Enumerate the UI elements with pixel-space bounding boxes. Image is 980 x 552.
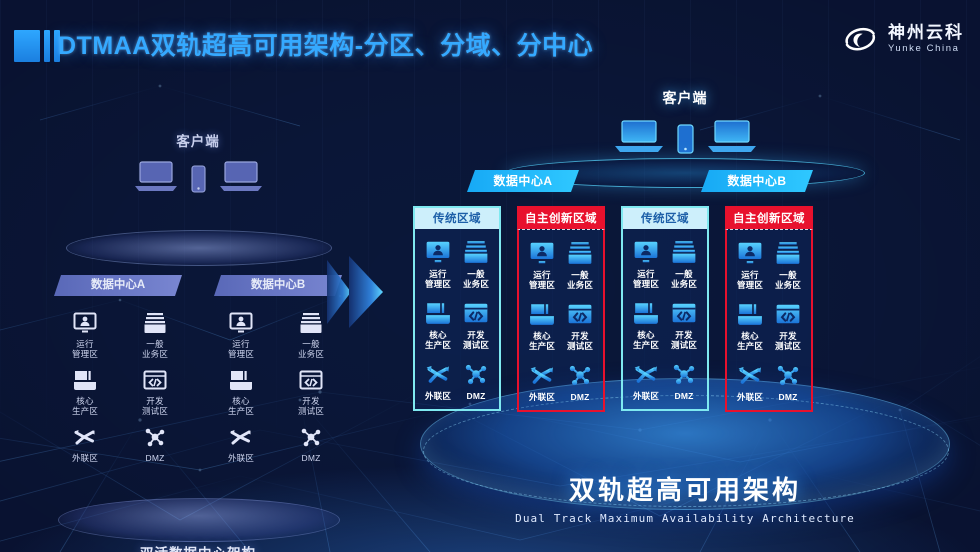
right-client-label: 客户端: [525, 88, 845, 108]
zone-ops: 运行管理区: [731, 239, 769, 290]
phone-icon: [191, 165, 206, 193]
network-branch-icon: [630, 360, 662, 388]
inbox-tray-icon: [772, 239, 804, 267]
zone-ops: 运行管理区: [523, 239, 561, 290]
zone-extranet: 外联区: [50, 424, 120, 463]
left-client-label: 客户端: [48, 130, 348, 150]
zone-label: 一般业务区: [142, 339, 168, 359]
zone-label: 外联区: [737, 392, 763, 402]
laptop-icon: [613, 118, 665, 154]
server-stack-icon: [422, 299, 454, 327]
zone-extranet: 外联区: [627, 360, 665, 401]
zone-label: DMZ: [570, 392, 589, 402]
zone-label: 外联区: [228, 453, 254, 463]
right-caption-cn: 双轨超高可用架构: [485, 470, 885, 507]
zone-label: 外联区: [72, 453, 98, 463]
zone-label: 开发测试区: [775, 331, 801, 351]
zone-dmz: DMZ: [120, 424, 190, 463]
inbox-tray-icon: [140, 310, 170, 336]
code-window-icon: [140, 367, 170, 393]
monitor-person-icon: [70, 310, 100, 336]
brand-logo: 神州云科 Yunke China: [841, 20, 964, 58]
monitor-person-icon: [734, 239, 766, 267]
right-datacenter-badge-a: 数据中心A: [467, 170, 579, 192]
legacy-architecture-diagram: 客户端 数据中心A 数据中心B: [48, 130, 348, 460]
zone-core: 核心生产区: [731, 300, 769, 351]
zone-label: 一般业务区: [298, 339, 324, 359]
zone-label: 核心生产区: [425, 330, 451, 350]
zone-label: 运行管理区: [633, 269, 659, 289]
network-branch-icon: [734, 361, 766, 389]
slide-canvas: DTMAA双轨超高可用架构-分区、分域、分中心 神州云科 Yunke China…: [0, 0, 980, 552]
zone-general: 一般业务区: [120, 310, 190, 359]
zone-label: 开发测试区: [298, 396, 324, 416]
right-client-devices: [525, 118, 845, 154]
phone-icon: [677, 124, 694, 154]
code-window-icon: [668, 299, 700, 327]
left-datacenter-b-zones: 运行管理区 一般业务区 核心生产区: [206, 310, 346, 463]
zone-label: DMZ: [674, 391, 693, 401]
zone-label: DMZ: [301, 453, 320, 463]
panel-body: 运行管理区 一般业务区 核心生产区: [621, 229, 709, 411]
zone-dmz: DMZ: [276, 424, 346, 463]
inbox-tray-icon: [668, 238, 700, 266]
dtmaa-architecture-diagram: 客户端 数据中心A: [405, 88, 965, 528]
zone-extranet: 外联区: [419, 360, 457, 401]
zone-devtest: 开发测试区: [769, 300, 807, 351]
zone-label: DMZ: [466, 391, 485, 401]
zone-label: 运行管理区: [72, 339, 98, 359]
right-datacenter-badge-b-wrap: 数据中心B: [701, 170, 813, 192]
node-cluster-icon: [772, 361, 804, 389]
zone-label: 运行管理区: [737, 270, 763, 290]
node-cluster-icon: [296, 424, 326, 450]
panel-innovation-b: 自主创新区域 运行管理区 一般业务区: [725, 206, 813, 412]
monitor-person-icon: [226, 310, 256, 336]
panel-body: 运行管理区 一般业务区 核心生产区: [413, 229, 501, 411]
network-branch-icon: [226, 424, 256, 450]
zone-general: 一般业务区: [561, 239, 599, 290]
right-caption-en: Dual Track Maximum Availability Architec…: [485, 512, 885, 525]
zone-dmz: DMZ: [457, 360, 495, 401]
galaxy-swirl-icon: [841, 20, 879, 58]
right-datacenter-badge-b: 数据中心B: [701, 170, 813, 192]
left-datacenter-badges: 数据中心A 数据中心B: [48, 275, 348, 296]
monitor-person-icon: [422, 238, 454, 266]
zone-core: 核心生产区: [206, 367, 276, 416]
zone-core: 核心生产区: [523, 300, 561, 351]
zone-label: 开发测试区: [671, 330, 697, 350]
zone-dmz: DMZ: [665, 360, 703, 401]
zone-devtest: 开发测试区: [665, 299, 703, 350]
zone-panels: 传统区域 运行管理区 一般业务区: [405, 206, 965, 412]
zone-label: 一般业务区: [463, 269, 489, 289]
header-accent-bars-icon: [14, 30, 60, 62]
zone-ops: 运行管理区: [206, 310, 276, 359]
panel-innovation-a: 自主创新区域 运行管理区 一般业务区: [517, 206, 605, 412]
zone-label: 核心生产区: [72, 396, 98, 416]
zone-label: 核心生产区: [633, 330, 659, 350]
panel-body: 运行管理区 一般业务区 核心生产区: [517, 229, 605, 412]
node-cluster-icon: [460, 360, 492, 388]
zone-core: 核心生产区: [50, 367, 120, 416]
panel-header: 传统区域: [413, 206, 501, 229]
code-window-icon: [296, 367, 326, 393]
zone-dmz: DMZ: [561, 361, 599, 402]
zone-ops: 运行管理区: [419, 238, 457, 289]
code-window-icon: [460, 299, 492, 327]
zone-core: 核心生产区: [419, 299, 457, 350]
zone-devtest: 开发测试区: [457, 299, 495, 350]
panel-header: 传统区域: [621, 206, 709, 229]
inbox-tray-icon: [296, 310, 326, 336]
laptop-icon: [133, 159, 179, 193]
right-client-group: 客户端: [525, 88, 845, 154]
node-cluster-icon: [668, 360, 700, 388]
monitor-person-icon: [526, 239, 558, 267]
zone-devtest: 开发测试区: [561, 300, 599, 351]
zone-extranet: 外联区: [523, 361, 561, 402]
inbox-tray-icon: [460, 238, 492, 266]
zone-label: 运行管理区: [529, 270, 555, 290]
left-client-devices: [48, 159, 348, 193]
left-diagram-caption: 双活数据中心架构: [48, 542, 348, 552]
zone-label: DMZ: [778, 392, 797, 402]
zone-label: 外联区: [529, 392, 555, 402]
zone-dmz: DMZ: [769, 361, 807, 402]
left-client-platform: [66, 230, 332, 266]
zone-label: 开发测试区: [463, 330, 489, 350]
zone-label: 一般业务区: [567, 270, 593, 290]
zone-label: 外联区: [425, 391, 451, 401]
server-stack-icon: [734, 300, 766, 328]
zone-label: 一般业务区: [671, 269, 697, 289]
server-stack-icon: [70, 367, 100, 393]
zone-devtest: 开发测试区: [276, 367, 346, 416]
right-datacenter-badge-a-wrap: 数据中心A: [467, 170, 579, 192]
zone-general: 一般业务区: [665, 238, 703, 289]
left-zone-groups: 运行管理区 一般业务区 核心生产区: [48, 310, 348, 463]
zone-label: 开发测试区: [142, 396, 168, 416]
network-branch-icon: [422, 360, 454, 388]
zone-label: DMZ: [145, 453, 164, 463]
server-stack-icon: [630, 299, 662, 327]
zone-ops: 运行管理区: [627, 238, 665, 289]
zone-devtest: 开发测试区: [120, 367, 190, 416]
laptop-icon: [706, 118, 758, 154]
panel-traditional-a: 传统区域 运行管理区 一般业务区: [413, 206, 501, 412]
zone-label: 外联区: [633, 391, 659, 401]
inbox-tray-icon: [564, 239, 596, 267]
server-stack-icon: [526, 300, 558, 328]
zone-extranet: 外联区: [731, 361, 769, 402]
zone-label: 核心生产区: [737, 331, 763, 351]
zone-label: 运行管理区: [425, 269, 451, 289]
double-chevron-right-icon: [325, 252, 391, 332]
code-window-icon: [772, 300, 804, 328]
network-branch-icon: [526, 361, 558, 389]
slide-header: DTMAA双轨超高可用架构-分区、分域、分中心 神州云科 Yunke China: [0, 0, 980, 82]
left-datacenter-a-zones: 运行管理区 一般业务区 核心生产区: [50, 310, 190, 463]
server-stack-icon: [226, 367, 256, 393]
zone-ops: 运行管理区: [50, 310, 120, 359]
panel-header: 自主创新区域: [517, 206, 605, 229]
zone-label: 一般业务区: [775, 270, 801, 290]
page-title: DTMAA双轨超高可用架构-分区、分域、分中心: [58, 26, 593, 62]
node-cluster-icon: [140, 424, 170, 450]
code-window-icon: [564, 300, 596, 328]
panel-header: 自主创新区域: [725, 206, 813, 229]
monitor-person-icon: [630, 238, 662, 266]
brand-name-cn: 神州云科: [888, 24, 964, 42]
left-datacenter-badge-a: 数据中心A: [54, 275, 182, 296]
zone-label: 开发测试区: [567, 331, 593, 351]
left-base-platform: [58, 498, 340, 542]
node-cluster-icon: [564, 361, 596, 389]
panel-traditional-b: 传统区域 运行管理区 一般业务区: [621, 206, 709, 412]
zone-extranet: 外联区: [206, 424, 276, 463]
right-diagram-caption: 双轨超高可用架构 Dual Track Maximum Availability…: [485, 470, 885, 525]
zone-general: 一般业务区: [457, 238, 495, 289]
zone-label: 核心生产区: [529, 331, 555, 351]
zone-label: 核心生产区: [228, 396, 254, 416]
left-datacenter-badge-b: 数据中心B: [214, 275, 342, 296]
zone-label: 运行管理区: [228, 339, 254, 359]
panel-body: 运行管理区 一般业务区 核心生产区: [725, 229, 813, 412]
zone-general: 一般业务区: [769, 239, 807, 290]
laptop-icon: [218, 159, 264, 193]
network-branch-icon: [70, 424, 100, 450]
zone-core: 核心生产区: [627, 299, 665, 350]
brand-name-en: Yunke China: [888, 44, 964, 54]
